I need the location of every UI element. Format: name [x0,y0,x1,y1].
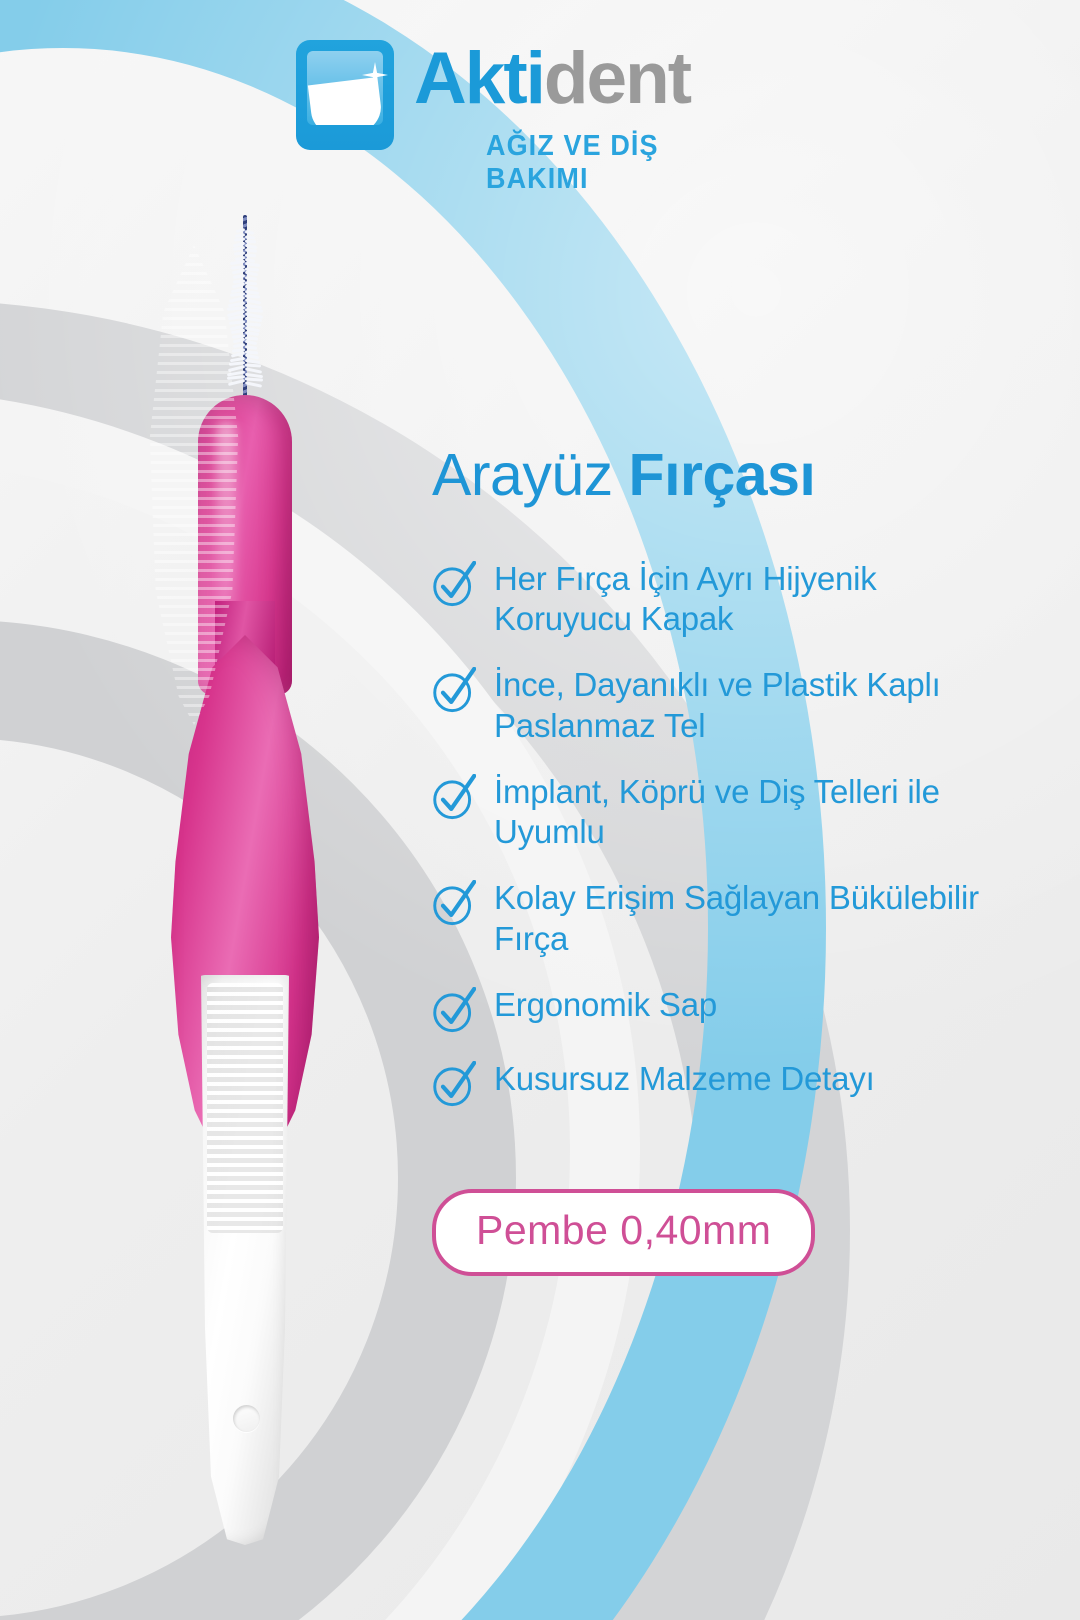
feature-label: Kusursuz Malzeme Detayı [494,1059,875,1099]
feature-item: İmplant, Köprü ve Diş Telleri ile Uyumlu [432,772,1012,853]
feature-list: Her Fırça İçin Ayrı Hijyenik Koruyucu Ka… [432,559,1012,1107]
logo-mark-inner-panel [307,51,383,125]
brand-name-part1: Akti [414,38,544,119]
feature-label: Kolay Erişim Sağlayan Bükülebilir Fırça [494,878,1012,959]
feature-item: İnce, Dayanıklı ve Plastik Kaplı Paslanm… [432,665,1012,746]
logo-mark-icon [296,40,394,150]
feature-label: Her Fırça İçin Ayrı Hijyenik Koruyucu Ka… [494,559,1012,640]
handle-ribs [207,983,283,1233]
feature-item: Kolay Erişim Sağlayan Bükülebilir Fırça [432,878,1012,959]
variant-badge: Pembe 0,40mm [432,1189,815,1276]
product-image [120,215,370,1555]
check-icon [432,774,476,820]
title-bold: Fırçası [629,442,816,508]
hang-hole-icon [233,1405,260,1432]
title-light: Arayüz [432,442,613,508]
brand-logo: Aktident AĞIZ VE DİŞ BAKIMI [296,40,766,175]
smile-icon [308,77,383,125]
feature-label: İnce, Dayanıklı ve Plastik Kaplı Paslanm… [494,665,1012,746]
check-icon [432,561,476,607]
brand-tagline: AĞIZ VE DİŞ BAKIMI [486,130,746,196]
feature-item: Kusursuz Malzeme Detayı [432,1059,1012,1107]
feature-label: Ergonomik Sap [494,985,717,1025]
feature-item: Her Fırça İçin Ayrı Hijyenik Koruyucu Ka… [432,559,1012,640]
brand-name-part2: dent [544,38,690,119]
product-info: Arayüz Fırçası Her Fırça İçin Ayrı Hijye… [432,445,1012,1276]
product-poster: Aktident AĞIZ VE DİŞ BAKIMI Arayüz Fırça… [0,0,1080,1620]
brand-wordmark: Aktident [414,42,690,115]
feature-label: İmplant, Köprü ve Diş Telleri ile Uyumlu [494,772,1012,853]
check-icon [432,987,476,1033]
check-icon [432,667,476,713]
page-title: Arayüz Fırçası [432,445,1012,507]
feature-item: Ergonomik Sap [432,985,1012,1033]
check-icon [432,880,476,926]
check-icon [432,1061,476,1107]
